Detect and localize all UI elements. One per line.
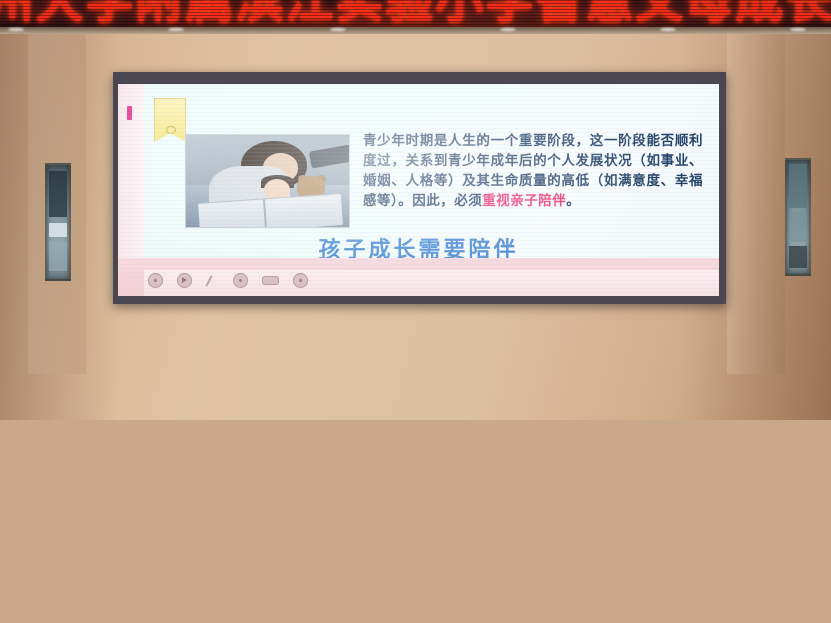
seat: [0, 580, 90, 611]
pointer-icon[interactable]: [233, 273, 248, 288]
seat: [0, 457, 86, 487]
slide-photo: [185, 134, 350, 228]
settings-icon[interactable]: [148, 273, 163, 288]
bookmark-tag-icon: [154, 98, 186, 142]
more-icon[interactable]: [293, 273, 308, 288]
led-banner-edge: [0, 27, 831, 34]
pen-icon[interactable]: [206, 274, 219, 287]
projection-screen: 青少年时期是人生的一个重要阶段，这一阶段能否顺利度过，关系到青少年成年后的个人发…: [113, 72, 726, 304]
slideshow-icon[interactable]: [262, 276, 279, 285]
seat: [0, 487, 88, 518]
presentation-slide: 青少年时期是人生的一个重要阶段，这一阶段能否顺利度过，关系到青少年成年后的个人发…: [118, 84, 719, 296]
slide-body-highlight: 重视亲子陪伴: [482, 193, 566, 209]
slot-window-right: [785, 158, 811, 276]
seat: [0, 611, 90, 623]
slot-window-left: [45, 163, 71, 281]
slide-body-text: 青少年时期是人生的一个重要阶段，这一阶段能否顺利度过，关系到青少年成年后的个人发…: [363, 131, 703, 211]
slide-rail-marker: [127, 106, 132, 120]
led-banner-text: 州大学附属滨江实验小学智慧父母成长营: [0, 0, 831, 27]
slide-toolbar[interactable]: [142, 271, 338, 289]
slide-body-part2: 。: [566, 193, 580, 209]
seat: [0, 549, 88, 580]
attendee-head: [0, 433, 30, 457]
stage-backdrop: [0, 304, 831, 340]
seat: [0, 518, 88, 549]
play-icon[interactable]: [177, 273, 192, 288]
auditorium-scene: 州大学附属滨江实验小学智慧父母成长营: [0, 0, 831, 623]
led-banner: 州大学附属滨江实验小学智慧父母成长营: [0, 0, 831, 27]
